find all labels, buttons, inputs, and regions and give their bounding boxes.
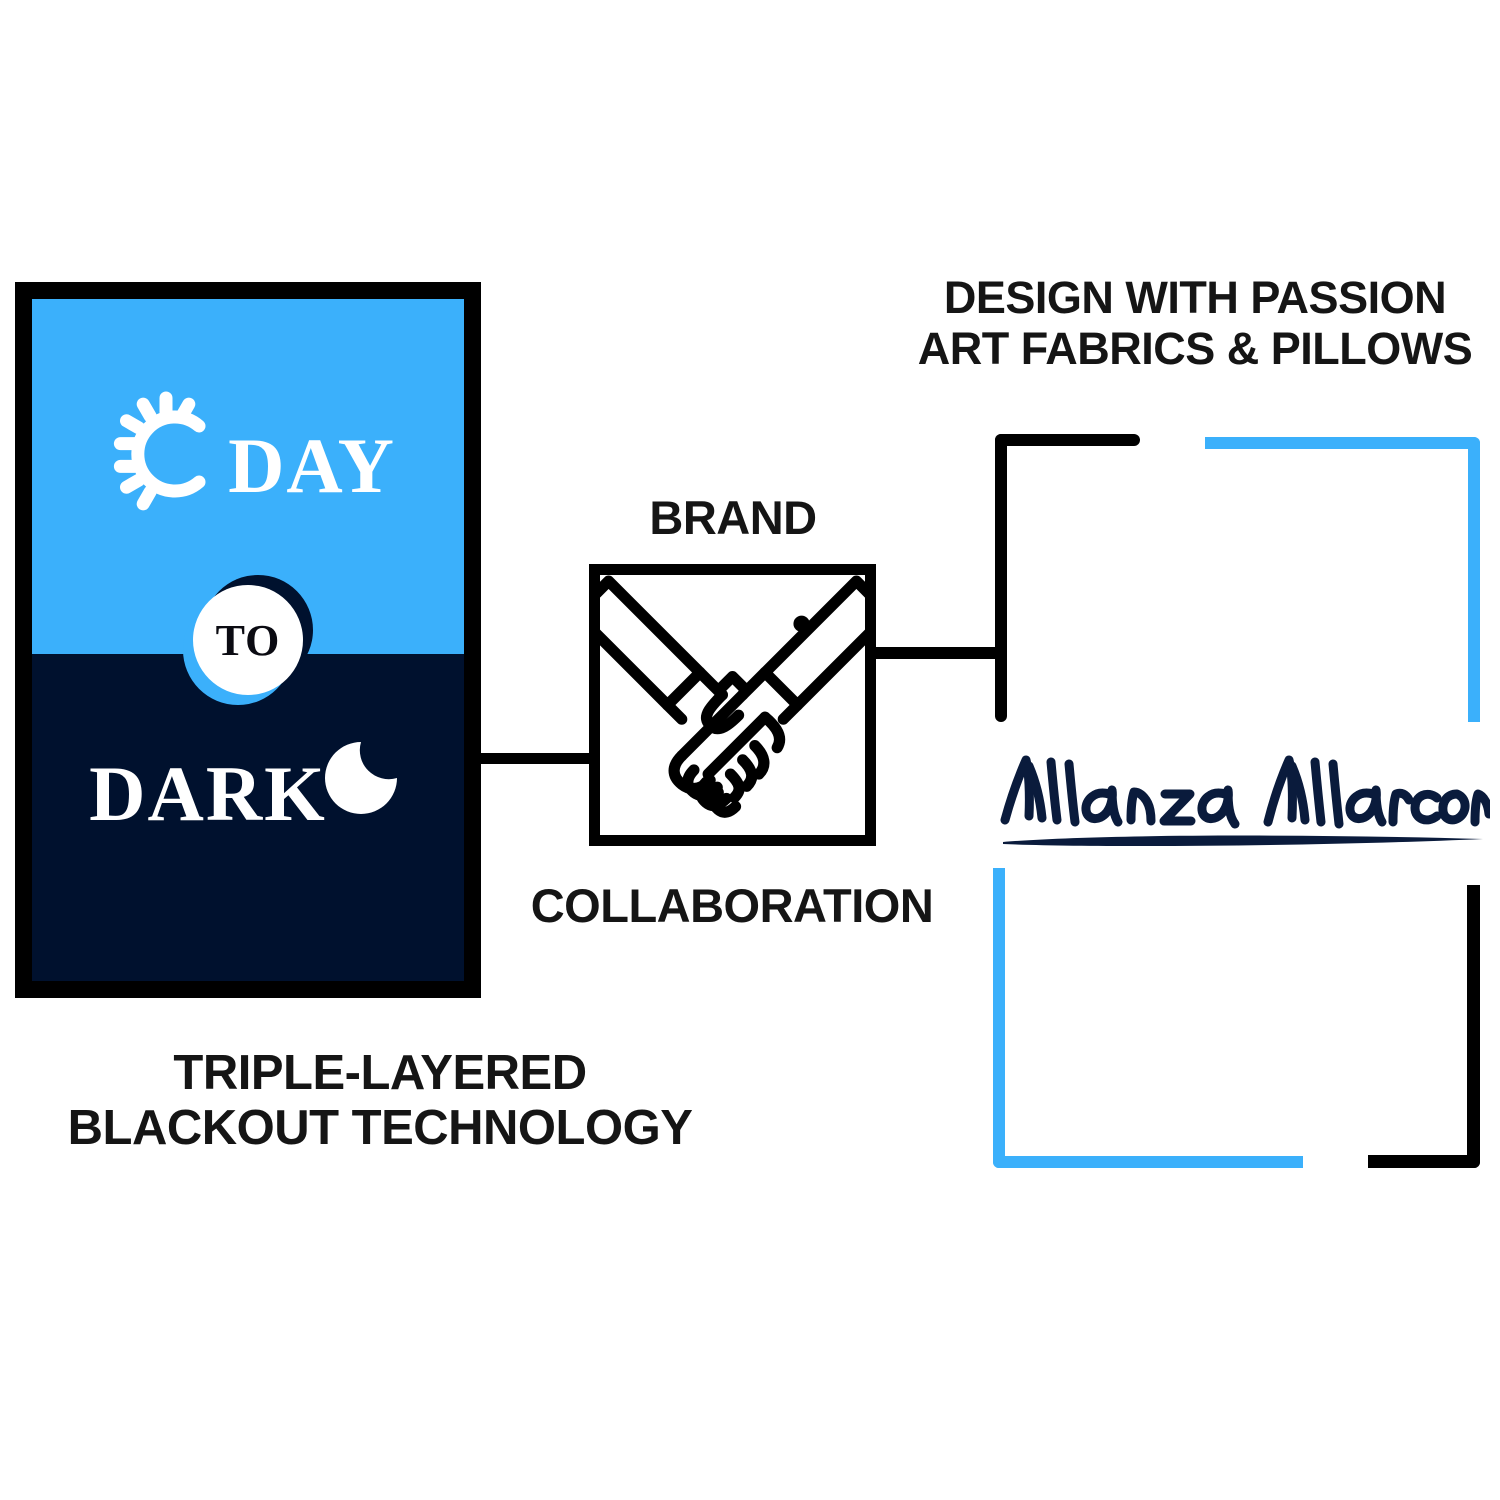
collaboration-label: COLLABORATION xyxy=(452,878,1012,933)
handshake-icon xyxy=(600,575,865,835)
partner-headline: DESIGN WITH PASSION ART FABRICS & PILLOW… xyxy=(890,272,1500,375)
day-label: DAY xyxy=(228,427,396,505)
to-badge: TO xyxy=(193,585,303,695)
handshake-box xyxy=(589,564,876,846)
day-row: DAY xyxy=(32,369,464,539)
to-label: TO xyxy=(216,615,281,666)
connector-handshake-to-partner xyxy=(872,647,1006,659)
bracket-bottom-left xyxy=(993,868,1303,1168)
to-badge-circle: TO xyxy=(193,585,303,695)
moon-icon xyxy=(315,732,407,824)
bracket-top-right xyxy=(1205,437,1480,722)
connector-partner-riser xyxy=(995,434,1007,722)
brand-label: BRAND xyxy=(590,490,876,545)
product-caption: TRIPLE-LAYERED BLACKOUT TECHNOLOGY xyxy=(0,1046,760,1156)
bracket-bottom-right xyxy=(1368,885,1480,1168)
connector-panel-to-handshake xyxy=(481,753,593,764)
connector-partner-top-arm xyxy=(995,434,1140,446)
dark-label: DARK xyxy=(89,755,327,833)
diagram-canvas: DAY TO DARK TRIPLE-LAYERED BLAC xyxy=(0,0,1500,1500)
sun-icon xyxy=(100,388,232,520)
partner-signature xyxy=(985,742,1490,860)
dark-row: DARK xyxy=(32,725,464,845)
product-panel: DAY TO DARK xyxy=(15,282,481,998)
product-panel-inner: DAY TO DARK xyxy=(32,299,464,981)
